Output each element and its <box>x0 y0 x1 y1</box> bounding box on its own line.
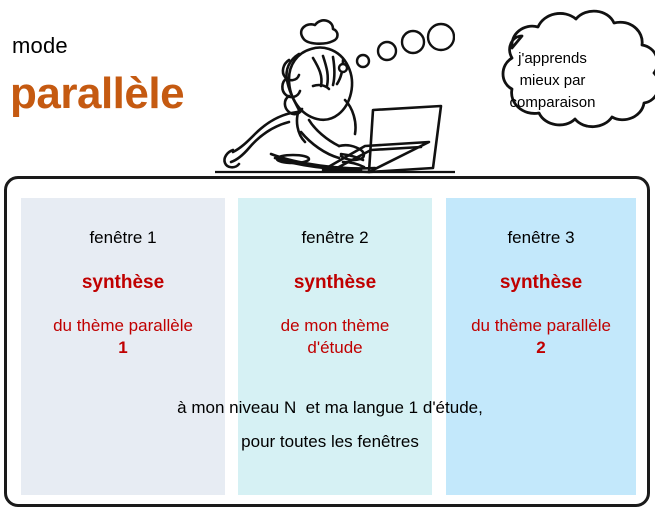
thought-line-2: mieux par <box>520 70 586 92</box>
window-2-emphasis: synthèse <box>238 272 432 294</box>
window-column-3[interactable]: fenêtre 3 synthèse du thème parallèle 2 <box>446 198 636 495</box>
columns-container: fenêtre 1 synthèse du thème parallèle 1 … <box>7 179 653 510</box>
window-3-sub-line2: 2 <box>536 338 545 357</box>
window-2-sub-line2: d'étude <box>307 338 362 357</box>
thought-bubble: j'apprends mieux par comparaison <box>450 4 655 154</box>
window-3-emphasis: synthèse <box>446 272 636 294</box>
window-1-sub-line2: 1 <box>118 338 127 357</box>
window-3-header: fenêtre 3 <box>446 228 636 248</box>
window-2-header: fenêtre 2 <box>238 228 432 248</box>
window-1-subtitle: du thème parallèle 1 <box>21 315 225 359</box>
window-column-1[interactable]: fenêtre 1 synthèse du thème parallèle 1 <box>21 198 225 495</box>
window-3-sub-line1: du thème parallèle <box>471 316 611 335</box>
thought-dots-icon <box>335 18 455 78</box>
window-2-sub-line1: de mon thème <box>281 316 390 335</box>
slide-canvas: mode parallèle <box>0 0 657 515</box>
window-column-2[interactable]: fenêtre 2 synthèse de mon thème d'étude <box>238 198 432 495</box>
mode-kicker-label: mode <box>12 35 68 57</box>
page-title: parallèle <box>10 72 184 116</box>
thought-line-3: comparaison <box>510 92 596 114</box>
window-1-emphasis: synthèse <box>21 272 225 294</box>
thought-bubble-text: j'apprends mieux par comparaison <box>450 4 655 154</box>
thought-line-1: j'apprends <box>518 48 587 70</box>
window-3-subtitle: du thème parallèle 2 <box>446 315 636 359</box>
window-2-subtitle: de mon thème d'étude <box>238 315 432 359</box>
window-1-header: fenêtre 1 <box>21 228 225 248</box>
windows-panel: fenêtre 1 synthèse du thème parallèle 1 … <box>4 176 650 507</box>
window-1-sub-line1: du thème parallèle <box>53 316 193 335</box>
